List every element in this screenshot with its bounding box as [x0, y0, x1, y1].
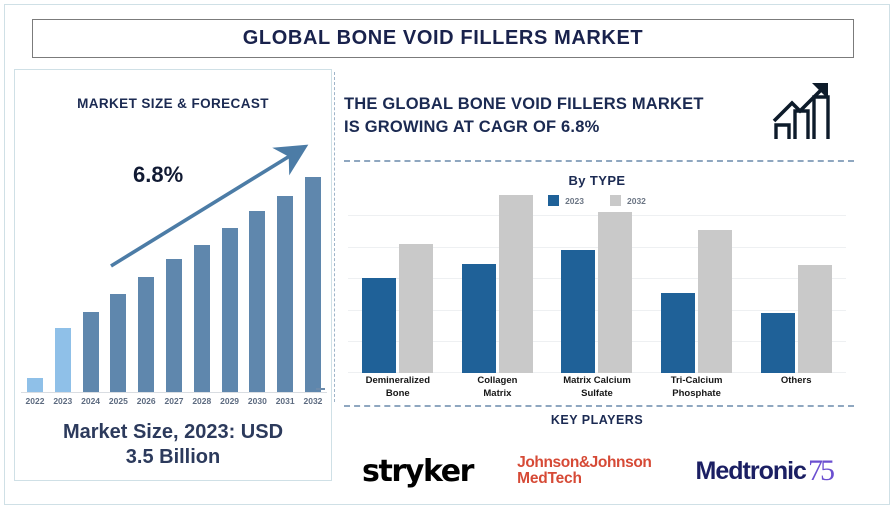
key-players-logos: stryker Johnson&Johnson MedTech Medtroni… [340, 441, 854, 501]
forecast-bar-2028 [194, 245, 210, 392]
by-type-chart [348, 215, 846, 373]
bar-2023 [362, 278, 396, 373]
legend-swatch-icon [548, 195, 559, 206]
bar-chart-growth-icon [770, 81, 844, 145]
bar-2032 [399, 244, 433, 373]
bar-2032 [499, 195, 533, 373]
left-panel-heading: MARKET SIZE & FORECAST [15, 96, 331, 111]
legend-label: 2032 [627, 196, 646, 206]
forecast-axis-line [21, 392, 327, 393]
forecast-axis-labels: 2022202320242025202620272028202920302031… [21, 396, 327, 406]
by-type-panel: THE GLOBAL BONE VOID FILLERS MARKET IS G… [340, 69, 854, 481]
market-size-forecast-chart [21, 140, 327, 392]
jnj-line1: Johnson&Johnson [517, 455, 651, 471]
medtronic-75-badge: 75 [808, 454, 832, 488]
forecast-bars [21, 140, 327, 392]
category-line2: Bone [386, 388, 410, 399]
legend-label: 2023 [565, 196, 584, 206]
divider-top [344, 160, 854, 162]
category-line2: Matrix [483, 388, 511, 399]
forecast-axis-label: 2031 [272, 396, 298, 406]
forecast-axis-label: 2029 [217, 396, 243, 406]
bar-2032 [598, 212, 632, 373]
growth-statement: THE GLOBAL BONE VOID FILLERS MARKET IS G… [344, 93, 764, 139]
bar-2032 [698, 230, 732, 373]
category-line1: Others [781, 375, 812, 386]
forecast-bar-2026 [138, 277, 154, 392]
forecast-axis-tick [316, 388, 325, 390]
forecast-bar-2025 [110, 294, 126, 392]
by-type-title: By TYPE [340, 173, 854, 188]
forecast-bar-2024 [83, 312, 99, 392]
market-size-forecast-panel: MARKET SIZE & FORECAST 6.8% 202220232024… [14, 69, 332, 481]
by-type-category-label: CollagenMatrix [449, 375, 545, 401]
category-line2: Sulfate [581, 388, 613, 399]
panel-vertical-divider [334, 72, 335, 402]
forecast-axis-label: 2022 [22, 396, 48, 406]
by-type-category-label: Others [748, 375, 844, 401]
bar-group [462, 195, 533, 373]
medtronic-name: Medtronic [696, 457, 806, 486]
category-line2: Phosphate [672, 388, 721, 399]
forecast-axis-label: 2025 [105, 396, 131, 406]
forecast-axis-label: 2030 [244, 396, 270, 406]
forecast-bar-2022 [27, 378, 43, 392]
category-line1: Collagen [477, 375, 517, 386]
market-size-line1: Market Size, 2023: USD [63, 421, 283, 443]
legend-item-2032[interactable]: 2032 [610, 195, 646, 206]
key-players-title: KEY PLAYERS [340, 413, 854, 427]
forecast-axis-label: 2027 [161, 396, 187, 406]
by-type-category-labels: DemineralizedBoneCollagenMatrixMatrix Ca… [348, 375, 846, 401]
forecast-bar-2032 [305, 177, 321, 392]
forecast-bar-2029 [222, 228, 238, 392]
forecast-axis-label: 2024 [78, 396, 104, 406]
forecast-bar-2023 [55, 328, 71, 392]
bar-group [661, 230, 732, 373]
stryker-logo: stryker [362, 454, 473, 489]
page-title: GLOBAL BONE VOID FILLERS MARKET [243, 27, 643, 50]
bar-2023 [462, 264, 496, 373]
bar-2023 [661, 293, 695, 373]
forecast-axis-label: 2028 [189, 396, 215, 406]
bar-2023 [761, 313, 795, 373]
by-type-category-label: Matrix CalciumSulfate [549, 375, 645, 401]
by-type-category-label: Tri-CalciumPhosphate [649, 375, 745, 401]
bar-2023 [561, 250, 595, 373]
forecast-axis-label: 2026 [133, 396, 159, 406]
medtronic-logo: Medtronic 75 [696, 454, 832, 488]
forecast-bar-2030 [249, 211, 265, 392]
category-line1: Matrix Calcium [563, 375, 631, 386]
category-line1: Tri-Calcium [671, 375, 723, 386]
growth-statement-line2: IS GROWING AT CAGR OF 6.8% [344, 118, 599, 136]
by-type-category-label: DemineralizedBone [350, 375, 446, 401]
bar-2032 [798, 265, 832, 373]
forecast-axis-label: 2023 [50, 396, 76, 406]
by-type-bar-groups [348, 215, 846, 373]
forecast-bar-2027 [166, 259, 182, 392]
bar-group [362, 244, 433, 373]
market-size-value: Market Size, 2023: USD 3.5 Billion [15, 420, 331, 470]
growth-statement-line1: THE GLOBAL BONE VOID FILLERS MARKET [344, 95, 704, 113]
forecast-bar-2031 [277, 196, 293, 392]
jnj-line2: MedTech [517, 471, 651, 487]
bar-group [561, 212, 632, 373]
forecast-axis-label: 2032 [300, 396, 326, 406]
legend-swatch-icon [610, 195, 621, 206]
by-type-legend: 20232032 [340, 195, 854, 206]
bar-group [761, 265, 832, 373]
category-line1: Demineralized [366, 375, 430, 386]
legend-item-2023[interactable]: 2023 [548, 195, 584, 206]
divider-bottom [344, 405, 854, 407]
market-size-line2: 3.5 Billion [126, 446, 220, 468]
title-box: GLOBAL BONE VOID FILLERS MARKET [32, 19, 854, 58]
johnson-and-johnson-medtech-logo: Johnson&Johnson MedTech [517, 455, 651, 488]
